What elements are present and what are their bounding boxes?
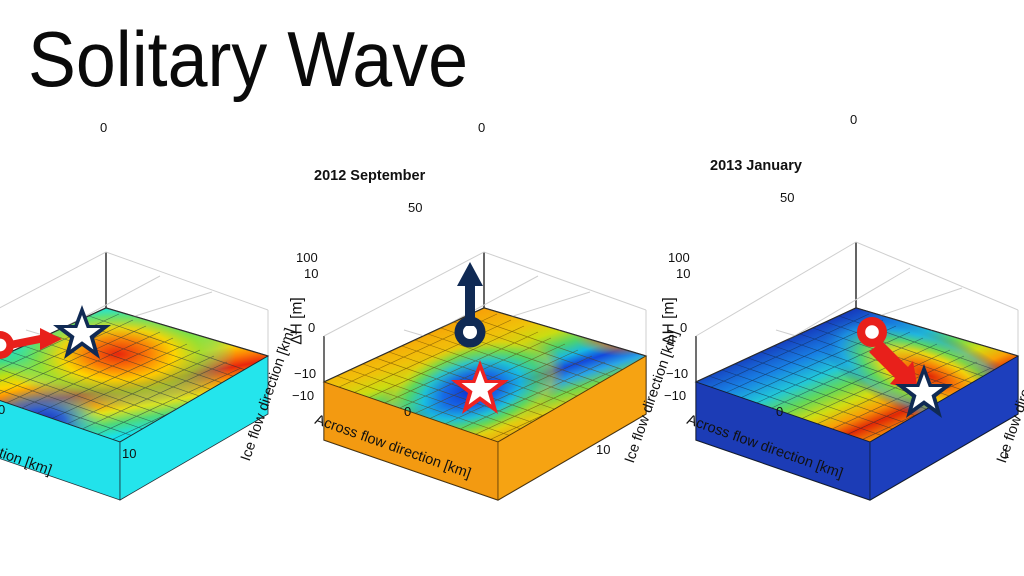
plot-title-right: 2013 January: [710, 158, 802, 174]
xtick-neg10-middle: −10: [292, 388, 314, 403]
ytick-100-middle: 100: [296, 250, 318, 265]
xtick-0-right: 0: [776, 404, 783, 419]
wave-origin-marker-middle: [455, 262, 486, 348]
surface-plot-right: 2013 January 0 50 100 10 0 −10 −10 0 1 Δ…: [672, 140, 1024, 480]
surface-plot-middle: 2012 September 0 50 100 10 0 −10 −10 0 1…: [300, 140, 660, 480]
xtick-0-middle: 0: [404, 404, 411, 419]
zaxis-label-right: ΔH [m]: [661, 297, 679, 344]
figure-canvas: Solitary Wave: [0, 0, 1024, 576]
xtick-0-left: 0: [0, 402, 5, 417]
ztick-0-middle: 0: [308, 320, 315, 335]
xtick-10-middle: 10: [596, 442, 610, 457]
ztick-10-middle: 10: [304, 266, 318, 281]
ytick-0-left: 0: [100, 120, 107, 135]
page-title: Solitary Wave: [28, 16, 468, 102]
ytick-0-right: 0: [850, 112, 857, 127]
ztick-neg10-middle: −10: [294, 366, 316, 381]
ztick-neg10-right: −10: [666, 366, 688, 381]
ztick-10-right: 10: [676, 266, 690, 281]
ytick-50-right: 50: [780, 190, 794, 205]
xtick-neg10-right: −10: [664, 388, 686, 403]
xtick-10-left: 10: [122, 446, 136, 461]
ytick-0-middle: 0: [478, 120, 485, 135]
ytick-50-middle: 50: [408, 200, 422, 215]
ytick-100-right: 100: [668, 250, 690, 265]
zaxis-label-middle: ΔH [m]: [289, 297, 307, 344]
ztick-0-right: 0: [680, 320, 687, 335]
plot-title-middle: 2012 September: [314, 168, 425, 184]
surface-plot-left: 0 50 0 10 cross flow direction [km] Ice …: [0, 140, 282, 480]
